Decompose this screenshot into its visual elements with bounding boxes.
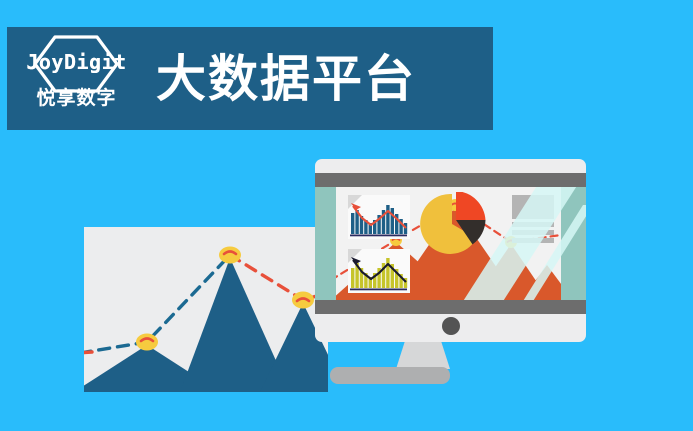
bar-chart-blue-card[interactable]	[348, 195, 410, 239]
blue-mountain-chart	[84, 227, 328, 392]
text-block-header	[512, 195, 554, 219]
screen-accent-band-left	[315, 187, 336, 300]
dashed-line-red-tail	[84, 352, 92, 353]
dashboard-content	[336, 187, 561, 300]
text-block-line	[512, 222, 554, 227]
poster-canvas: JoyDigit 悦享数字 大数据平台	[0, 0, 693, 431]
chart-marker-1[interactable]	[136, 334, 158, 351]
logo-chinese-text: 悦享数字	[36, 89, 116, 108]
screen-accent-band-right	[561, 187, 586, 300]
page-title: 大数据平台	[156, 54, 416, 104]
webcam-icon	[442, 317, 460, 335]
monitor-bezel-bottom	[315, 300, 586, 314]
chart-marker-3[interactable]	[292, 292, 314, 309]
monitor-bezel-top	[315, 173, 586, 187]
monitor-stand-base	[330, 367, 450, 384]
bar-chart-yellow-card[interactable]	[348, 249, 410, 293]
header-banner: JoyDigit 悦享数字 大数据平台	[7, 27, 493, 130]
pie-slice-red[interactable]	[456, 192, 486, 220]
logo-latin-text: JoyDigit	[26, 52, 126, 72]
desktop-monitor	[315, 159, 586, 342]
bar-chart-yellow	[348, 249, 410, 293]
chart-marker-2[interactable]	[219, 247, 241, 264]
monitor-stand-neck	[396, 342, 450, 369]
mountain-line-chart-panel	[84, 227, 328, 392]
text-block-line	[512, 238, 554, 243]
brand-logo: JoyDigit 悦享数字	[19, 33, 134, 125]
text-block-line	[512, 230, 554, 235]
bar-chart-blue	[348, 195, 410, 239]
monitor-screen	[315, 187, 586, 300]
axis-line	[350, 235, 407, 237]
pie-chart[interactable]	[420, 192, 488, 254]
axis-line	[350, 289, 407, 291]
